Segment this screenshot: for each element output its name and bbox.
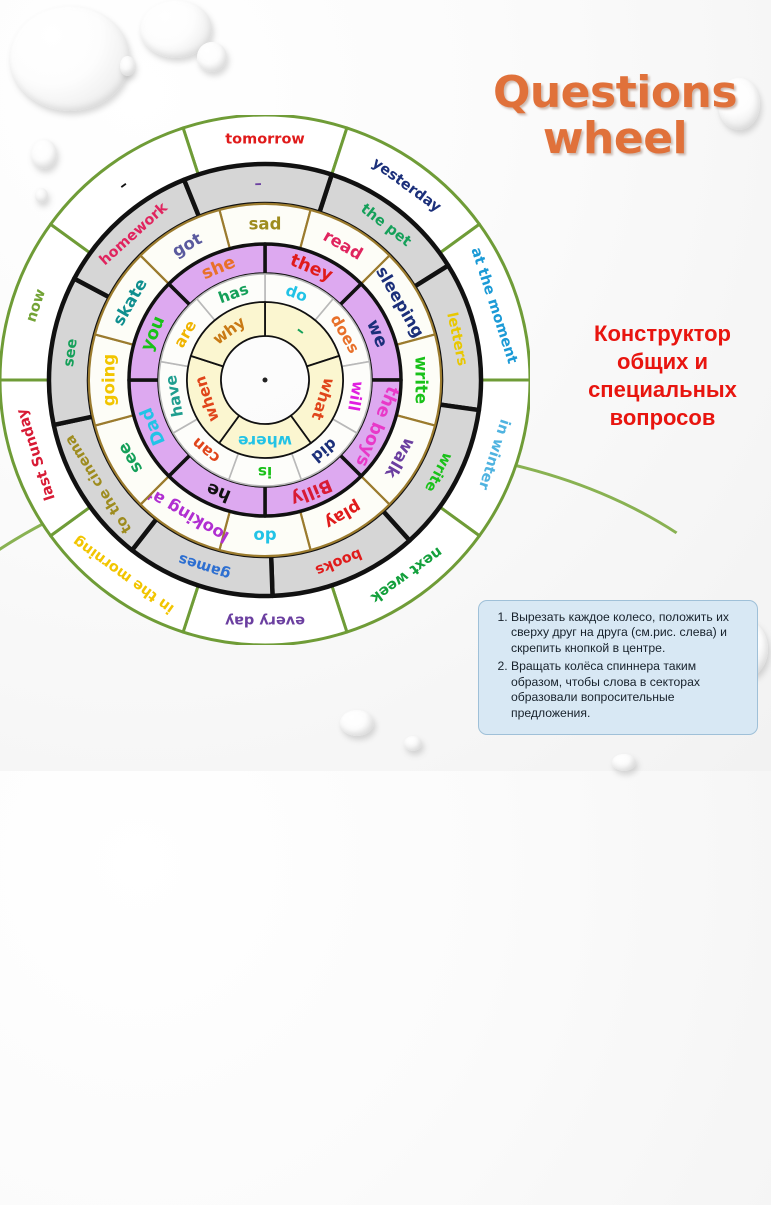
wheel-sector[interactable]: do [219, 511, 310, 556]
instruction-item: Вырезать каждое колесо, положить их свер… [511, 610, 749, 656]
wheel-sector-label: sad [249, 215, 282, 234]
water-droplet [197, 42, 227, 72]
subtitle: Конструктор общих и специальных вопросов [555, 320, 770, 433]
subtitle-line2: общих и [617, 349, 708, 374]
wheel-sector-label: do [253, 527, 276, 546]
subtitle-line4: вопросов [610, 405, 716, 430]
wheel-sector-label: write [412, 356, 431, 404]
instruction-item: Вращать колёса спиннера таким образом, ч… [511, 659, 749, 721]
wheel-center-pin[interactable] [263, 378, 268, 383]
water-droplet [10, 6, 130, 111]
wheel-sector[interactable]: sad [219, 204, 310, 249]
page-title-line2: wheel [543, 113, 687, 164]
subtitle-line3: специальных [588, 377, 737, 402]
wheel-sector-label: tomorrow [225, 132, 305, 148]
wheel-sector-label: every day [224, 613, 304, 629]
wheel-sector-label: is [258, 463, 273, 481]
wheel-sector[interactable]: going [89, 334, 134, 425]
questions-wheel[interactable]: tomorrowyesterdayat the momentin wintern… [0, 115, 530, 645]
page-title-line1: Questions [493, 67, 737, 118]
subtitle-line1: Конструктор [594, 321, 731, 346]
wheel-sector[interactable]: write [396, 334, 441, 425]
water-droplet [120, 56, 135, 76]
wheel-sector-label: where [238, 432, 292, 450]
wheel-sector-label: going [100, 354, 119, 406]
wheel-sector-label: – [254, 176, 262, 192]
questions-wheel-svg[interactable]: tomorrowyesterdayat the momentin wintern… [0, 115, 530, 645]
